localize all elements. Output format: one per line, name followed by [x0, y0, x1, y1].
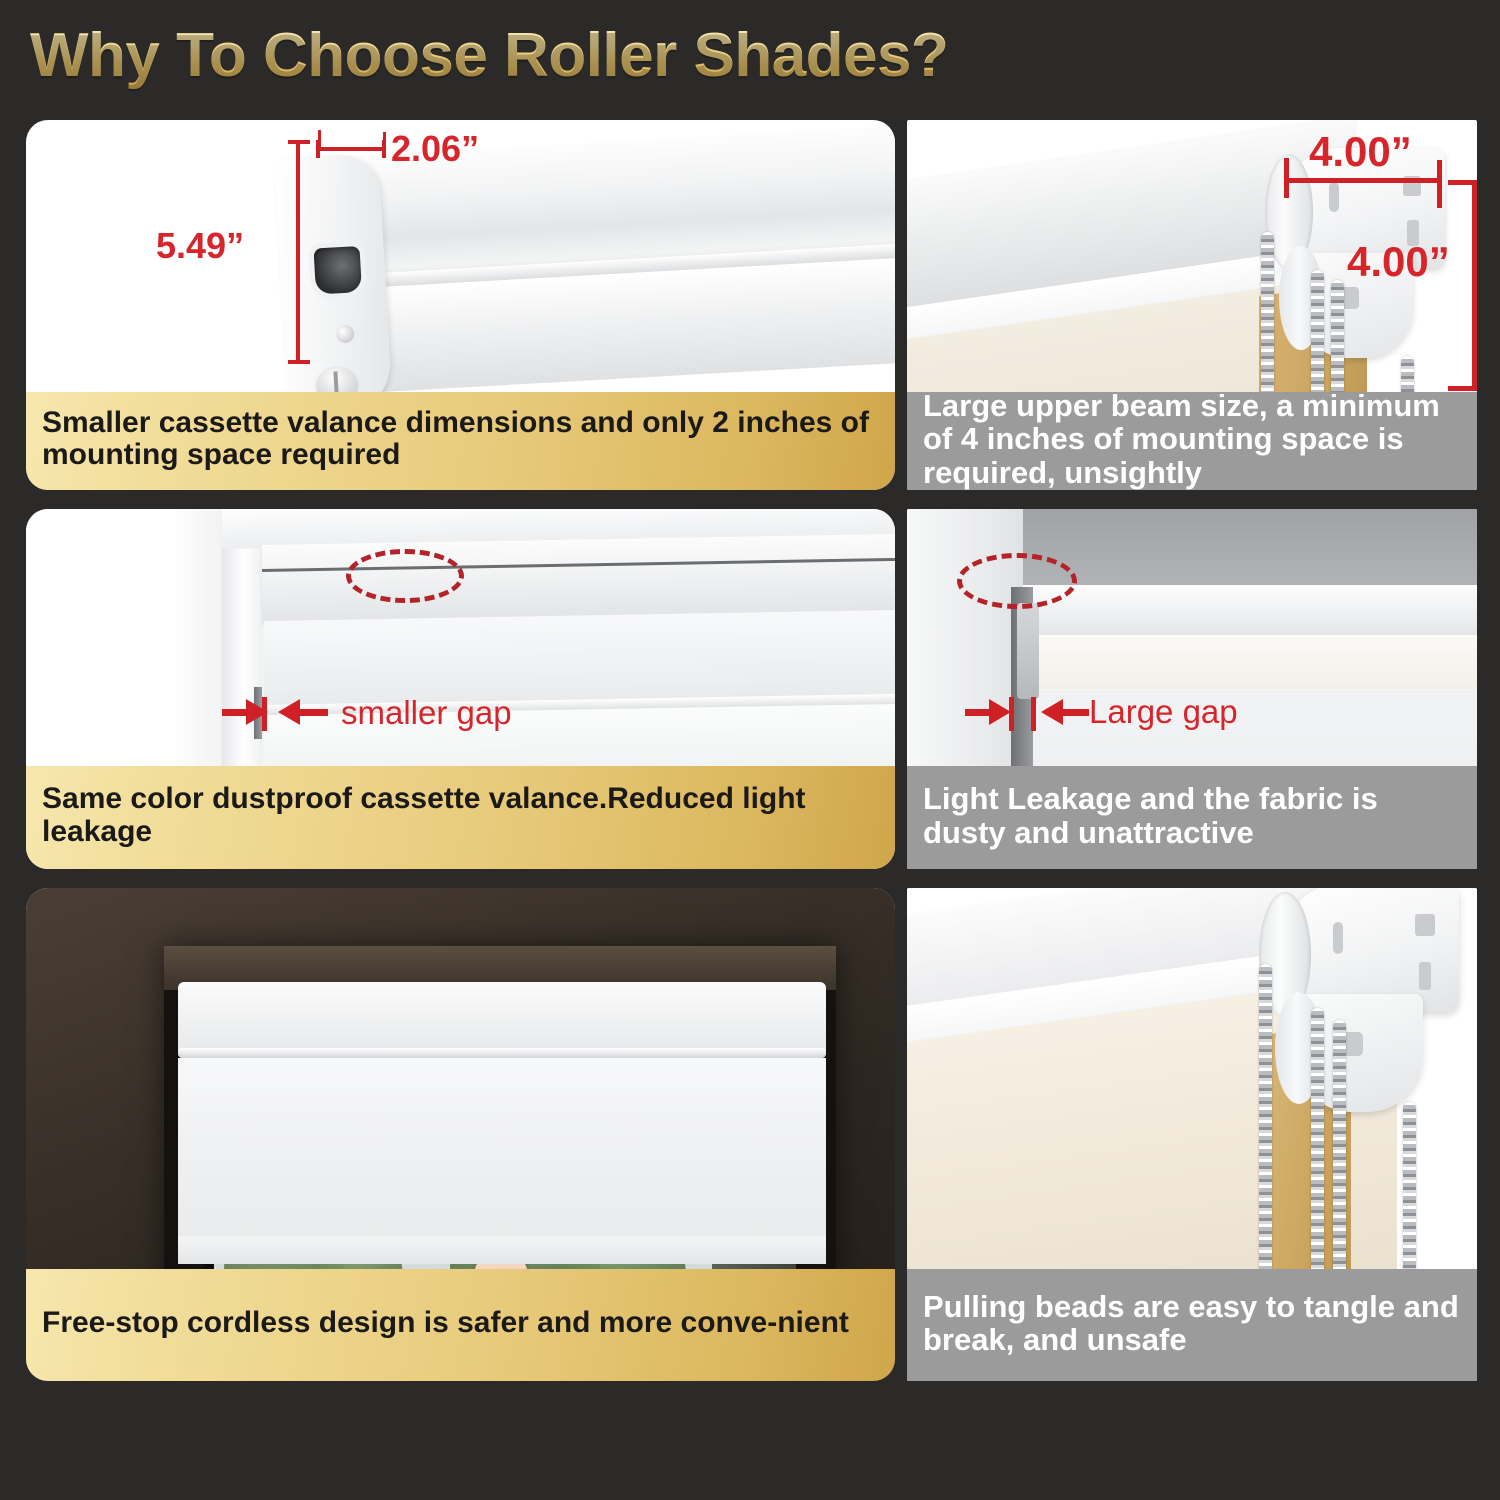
highlight-ellipse-icon [957, 553, 1077, 609]
title-bar: Why To Choose Roller Shades? [0, 0, 1500, 110]
caption-mid-right-text: Light Leakage and the fabric is dusty an… [923, 782, 1461, 849]
beam-width-tick-left [1284, 158, 1289, 198]
gap-arrow-right-icon [989, 699, 1011, 725]
height-dimension-label: 5.49” [156, 225, 244, 267]
valance-slot [314, 246, 362, 294]
bracket-rib-1 [1329, 182, 1339, 212]
roller-tube [1023, 585, 1477, 641]
caption-top-left-text: Smaller cassette valance dimensions and … [42, 407, 879, 472]
bracket-notch-1 [1415, 914, 1435, 936]
gap-arrow-stem-right [298, 709, 328, 716]
cassette-valance-illustration [275, 124, 895, 410]
valance-end-cap [274, 153, 392, 418]
caption-bottom-right-text: Pulling beads are easy to tangle and bre… [923, 1290, 1461, 1357]
panel-bottom-right: Pulling beads are easy to tangle and bre… [907, 888, 1477, 1381]
beam-height-dimension-line [1472, 182, 1477, 390]
window-frame-outer-left [176, 509, 224, 767]
gap-arrow-stem-right [1061, 709, 1089, 716]
caption-bottom-left-text: Free-stop cordless design is safer and m… [42, 1307, 849, 1339]
caption-mid-left: Same color dustproof cassette valance.Re… [26, 766, 895, 869]
width-extension-left [318, 130, 321, 150]
caption-top-right: Large upper beam size, a minimum of 4 in… [907, 392, 1477, 490]
bracket-rib-1 [1333, 922, 1343, 954]
gap-arrow-stem-left [965, 709, 991, 716]
shade-fabric [178, 1058, 826, 1240]
caption-bottom-right: Pulling beads are easy to tangle and bre… [907, 1269, 1477, 1381]
roller-bracket [1259, 888, 1459, 1114]
window-jamb-left [907, 509, 1023, 775]
beam-width-label: 4.00” [1309, 128, 1412, 176]
panel-top-left: 2.06” 5.49” Smaller cassette valance dim… [26, 120, 895, 490]
panel-mid-left: smaller gap Same color dustproof cassett… [26, 509, 895, 869]
headrail-lip [178, 1048, 826, 1058]
panel-mid-right: Large gap Light Leakage and the fabric i… [907, 509, 1477, 869]
panel-bottom-left: Free-stop cordless design is safer and m… [26, 888, 895, 1381]
beam-height-tick-top [1448, 180, 1477, 185]
roller-end-clip [1017, 603, 1039, 699]
caption-mid-right: Light Leakage and the fabric is dusty an… [907, 766, 1477, 869]
caption-mid-left-text: Same color dustproof cassette valance.Re… [42, 783, 879, 848]
gap-arrow-left-icon [278, 699, 300, 725]
shade-fabric-white [1029, 635, 1477, 689]
page-title: Why To Choose Roller Shades? [30, 20, 948, 91]
gap-label: smaller gap [341, 694, 512, 732]
highlight-ellipse-icon [346, 549, 464, 603]
beam-width-tick-right [1437, 160, 1442, 208]
width-dimension-line [318, 147, 386, 151]
gap-arrow-left-icon [1041, 699, 1063, 725]
shade-bottom-rail [178, 1236, 826, 1264]
caption-top-left: Smaller cassette valance dimensions and … [26, 392, 895, 490]
gap-measure-line-right [1031, 697, 1036, 731]
height-tick-bottom [288, 360, 310, 364]
gap-arrow-stem-left [222, 709, 248, 716]
panel-top-right: 4.00” 4.00” Large upper beam size, a min… [907, 120, 1477, 490]
beam-width-dimension-line [1286, 178, 1441, 183]
bracket-notch-2 [1419, 962, 1431, 990]
gap-arrow-right-icon [246, 699, 268, 725]
caption-bottom-left: Free-stop cordless design is safer and m… [26, 1269, 895, 1381]
caption-top-right-text: Large upper beam size, a minimum of 4 in… [923, 389, 1461, 489]
gap-label: Large gap [1089, 693, 1238, 731]
height-dimension-line [296, 142, 300, 364]
width-dimension-label: 2.06” [391, 128, 479, 170]
cassette-headrail [178, 982, 826, 1054]
valance-screw-upper [336, 324, 355, 343]
width-extension-right [383, 132, 386, 150]
beam-height-label: 4.00” [1347, 238, 1450, 286]
height-tick-top [288, 140, 310, 144]
